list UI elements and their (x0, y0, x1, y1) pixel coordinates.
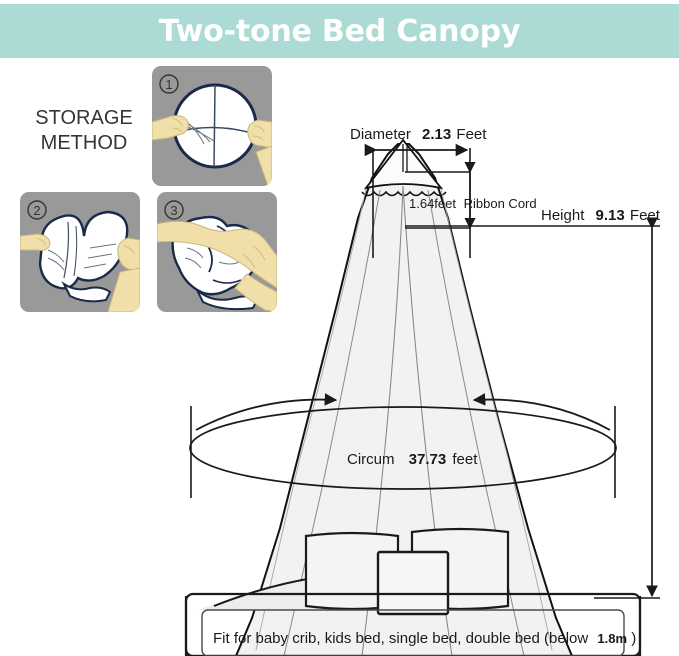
fit-caption-main: Fit for baby crib, kids bed, single bed,… (213, 630, 588, 647)
circum-word: Circum (347, 451, 395, 468)
canopy-dimension-diagram: Fit for baby crib, kids bed, single bed,… (0, 58, 679, 656)
height-unit: Feet (630, 207, 661, 224)
circumference-label: Circum 37.73 feet (347, 451, 478, 468)
diameter-label: Diameter 2.13 Feet (350, 126, 487, 143)
diameter-word: Diameter (350, 126, 411, 143)
fit-caption: Fit for baby crib, kids bed, single bed,… (213, 630, 636, 647)
height-word: Height (541, 207, 585, 224)
height-value: 9.13 (596, 207, 625, 224)
fit-caption-value: 1.8m (597, 631, 627, 646)
header-banner: Two-tone Bed Canopy (0, 4, 679, 58)
fit-caption-close: ) (631, 630, 636, 647)
page-title: Two-tone Bed Canopy (159, 14, 521, 49)
circum-unit: feet (452, 451, 478, 468)
diameter-unit: Feet (456, 126, 487, 143)
circum-value: 37.73 (409, 451, 447, 468)
ribbon-value: 1.64feet (409, 196, 456, 211)
canopy-diagram-svg: Fit for baby crib, kids bed, single bed,… (0, 58, 679, 656)
ribbon-cord-label: 1.64feet Ribbon Cord (409, 196, 537, 211)
height-label: Height 9.13 Feet (541, 207, 661, 224)
diameter-value: 2.13 (422, 126, 451, 143)
ribbon-word: Ribbon Cord (464, 196, 537, 211)
bed-and-pillows (198, 529, 508, 614)
